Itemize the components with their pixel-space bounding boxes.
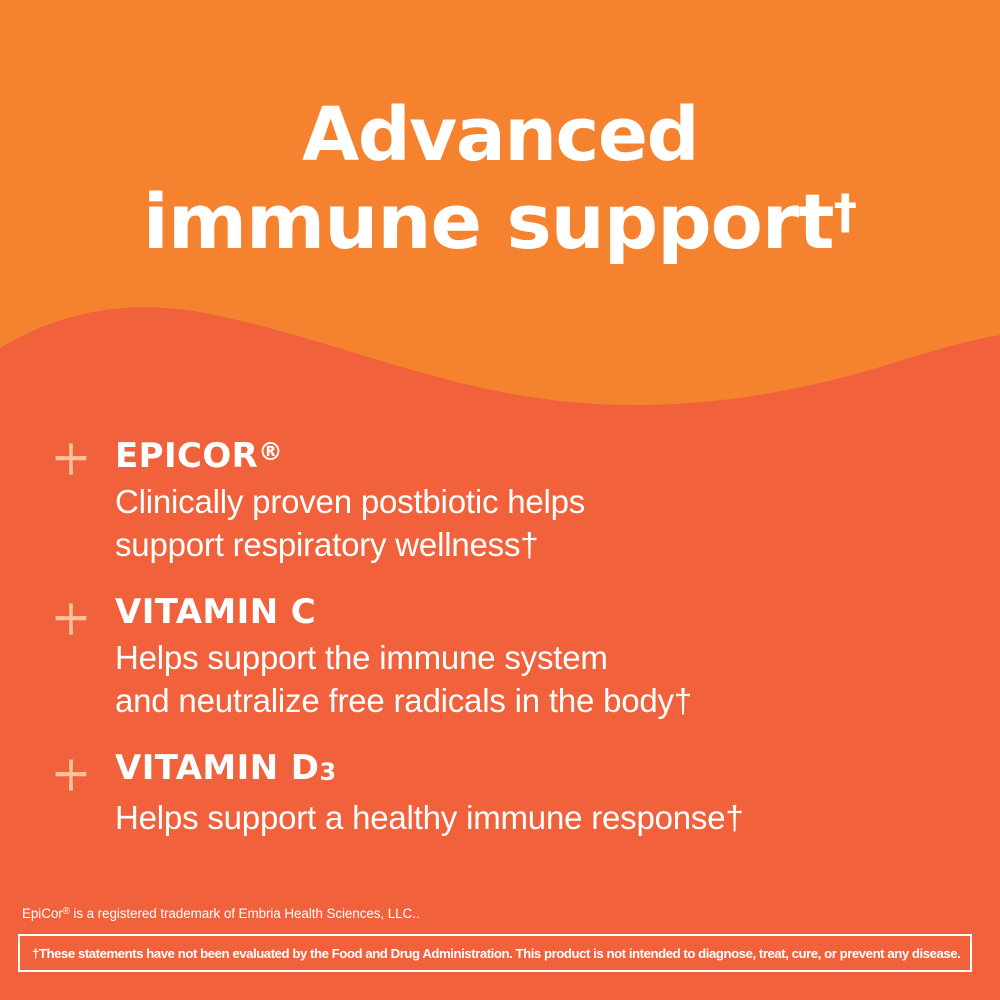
- headline-line-2-text: immune support: [143, 177, 834, 266]
- list-item: EPICOR® Clinically proven postbiotic hel…: [52, 432, 952, 566]
- headline-line-1: Advanced: [0, 96, 1000, 174]
- benefit-desc-line-1: Clinically proven postbiotic helps: [115, 480, 952, 523]
- trademark-note-before: EpiCor: [22, 906, 63, 921]
- headline-line-2: immune support†: [0, 174, 1000, 261]
- benefit-title-subscript: 3: [319, 758, 336, 786]
- benefit-desc-line-1: Helps support the immune system: [115, 636, 952, 679]
- plus-icon: [54, 758, 88, 792]
- registered-mark-icon: ®: [258, 437, 283, 466]
- benefit-desc-line-2: support respiratory wellness†: [115, 523, 952, 566]
- disclaimer-box: †These statements have not been evaluate…: [18, 934, 972, 972]
- page-title: Advanced immune support†: [0, 96, 1000, 261]
- benefit-title-text: EPICOR: [115, 436, 258, 476]
- benefit-title: VITAMIN D3: [115, 748, 952, 792]
- registered-mark-icon: ®: [63, 906, 70, 917]
- trademark-note: EpiCor® is a registered trademark of Emb…: [22, 904, 420, 922]
- benefit-title-text: VITAMIN C: [115, 592, 316, 632]
- benefit-desc-line-1: Helps support a healthy immune response†: [115, 796, 952, 839]
- benefit-title-text: VITAMIN D: [115, 748, 319, 788]
- benefit-description: Helps support the immune system and neut…: [115, 636, 952, 722]
- immune-support-promo-card: Advanced immune support† EPICOR® Clinica…: [0, 0, 1000, 1000]
- benefit-desc-line-2: and neutralize free radicals in the body…: [115, 679, 952, 722]
- benefit-description: Helps support a healthy immune response†: [115, 796, 952, 839]
- list-item: VITAMIN C Helps support the immune syste…: [52, 592, 952, 722]
- benefit-description: Clinically proven postbiotic helps suppo…: [115, 480, 952, 566]
- plus-icon: [54, 442, 88, 476]
- benefit-title: EPICOR®: [115, 432, 952, 476]
- benefits-list: EPICOR® Clinically proven postbiotic hel…: [52, 432, 952, 839]
- plus-icon: [54, 602, 88, 636]
- trademark-note-after: is a registered trademark of Embria Heal…: [70, 906, 420, 921]
- disclaimer-text: †These statements have not been evaluate…: [20, 946, 960, 961]
- list-item: VITAMIN D3 Helps support a healthy immun…: [52, 748, 952, 839]
- benefit-title: VITAMIN C: [115, 592, 952, 632]
- headline-dagger: †: [834, 185, 858, 240]
